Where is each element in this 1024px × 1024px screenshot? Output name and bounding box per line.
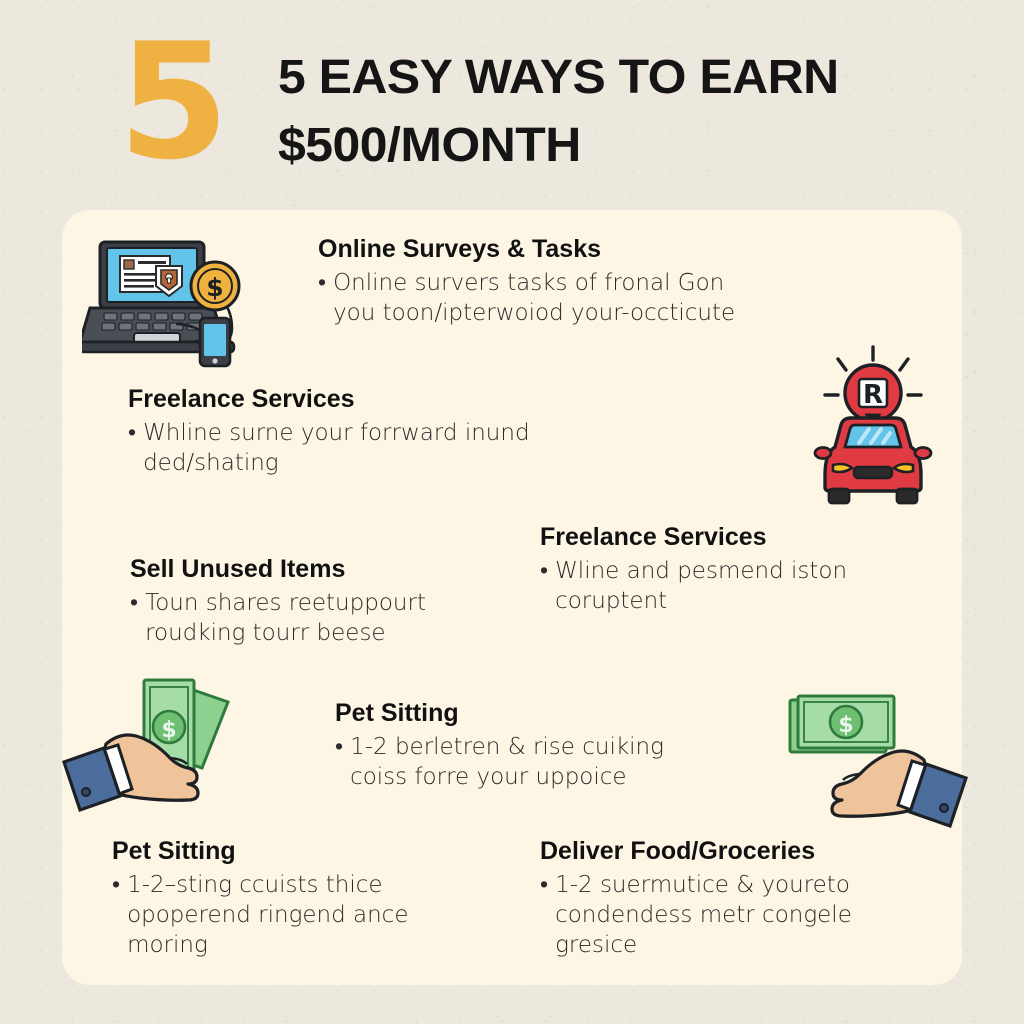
- tip-heading: Deliver Food/Groceries: [540, 836, 940, 867]
- tip-body-text: Wline and pesmend iston coruptent: [555, 556, 940, 616]
- tip-body: • 1-2–sting ccuists thice opoperend ring…: [112, 870, 492, 960]
- tip-body: • Toun shares reetuppourt roudking tourr…: [130, 588, 530, 648]
- page-title: 5 EASY WAYS TO EARN $500/MONTH: [278, 44, 1006, 180]
- tip-body-text: Whline surne your forrward inund ded/sha…: [143, 418, 598, 478]
- tip-body-text: Online survers tasks of fronal Gon you t…: [333, 268, 768, 328]
- tip-heading: Pet Sitting: [112, 836, 492, 867]
- tip-body: • Wline and pesmend iston coruptent: [540, 556, 940, 616]
- tip-body: • Online survers tasks of fronal Gon you…: [318, 268, 768, 328]
- laptop-coin-phone-illustration: $: [82, 238, 277, 373]
- rideshare-car-illustration: R: [793, 343, 953, 518]
- tip-heading: Freelance Services: [128, 384, 598, 415]
- header: 5 5 EASY WAYS TO EARN $500/MONTH: [0, 0, 1024, 210]
- tip-heading: Freelance Services: [540, 522, 940, 553]
- coin-dollar-symbol: $: [206, 273, 223, 302]
- bullet-icon: •: [112, 870, 120, 900]
- tip-heading: Online Surveys & Tasks: [318, 234, 768, 265]
- bill-dollar-symbol: $: [838, 713, 853, 738]
- badge-letter-r: R: [863, 380, 883, 410]
- tip-block-sell-unused-items: Sell Unused Items • Toun shares reetuppo…: [130, 554, 530, 648]
- tip-block-online-surveys: Online Surveys & Tasks • Online survers …: [318, 234, 768, 328]
- tip-body-text: 1-2–sting ccuists thice opoperend ringen…: [127, 870, 492, 960]
- tip-body: • 1-2 berletren & rise cuiking coiss for…: [335, 732, 725, 792]
- tip-body-text: 1-2 suermutice & youreto condendess metr…: [555, 870, 940, 960]
- bullet-icon: •: [540, 870, 548, 900]
- bullet-icon: •: [540, 556, 548, 586]
- tip-block-pet-sitting-2: Pet Sitting • 1-2–sting ccuists thice op…: [112, 836, 492, 960]
- bill-dollar-symbol: $: [161, 718, 176, 743]
- bullet-icon: •: [335, 732, 343, 762]
- tip-body-text: Toun shares reetuppourt roudking tourr b…: [145, 588, 530, 648]
- number-badge-5: 5: [118, 22, 225, 182]
- page-title-line-2: $500/MONTH: [278, 112, 1006, 180]
- tip-block-pet-sitting-1: Pet Sitting • 1-2 berletren & rise cuiki…: [335, 698, 725, 792]
- bullet-icon: •: [318, 268, 326, 298]
- tip-heading: Pet Sitting: [335, 698, 725, 729]
- hand-holding-cash-illustration: $: [58, 672, 273, 837]
- tip-body: • Whline surne your forrward inund ded/s…: [128, 418, 598, 478]
- tip-body-text: 1-2 berletren & rise cuiking coiss forre…: [350, 732, 725, 792]
- bullet-icon: •: [128, 418, 136, 448]
- hand-holding-bill-illustration: $: [772, 684, 972, 839]
- tip-block-freelance-services-1: Freelance Services • Whline surne your f…: [128, 384, 598, 478]
- tip-block-freelance-services-2: Freelance Services • Wline and pesmend i…: [540, 522, 940, 616]
- page-title-line-1: 5 EASY WAYS TO EARN: [278, 44, 1006, 112]
- tip-heading: Sell Unused Items: [130, 554, 530, 585]
- bullet-icon: •: [130, 588, 138, 618]
- tip-block-deliver-food-groceries: Deliver Food/Groceries • 1-2 suermutice …: [540, 836, 940, 960]
- tip-body: • 1-2 suermutice & youreto condendess me…: [540, 870, 940, 960]
